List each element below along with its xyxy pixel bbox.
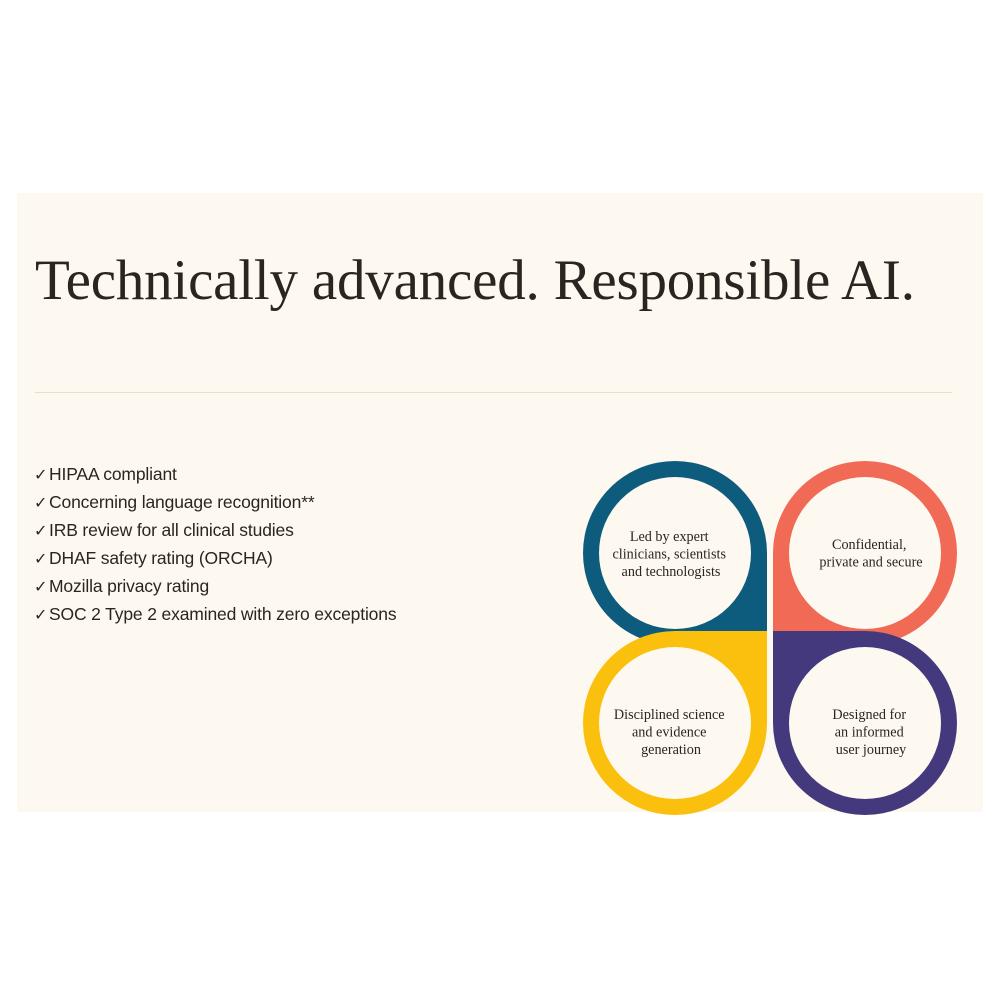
check-icon: ✓ xyxy=(34,491,49,517)
content-card: Technically advanced. Responsible AI. ✓ … xyxy=(17,193,983,812)
petal-line: an informed xyxy=(835,725,904,741)
check-icon: ✓ xyxy=(34,603,49,629)
petal-line: Designed for xyxy=(832,707,906,723)
check-icon: ✓ xyxy=(34,547,49,573)
pinwheel-petal-bottom-left: Disciplined science and evidence generat… xyxy=(583,631,767,815)
petal-line: Led by expert xyxy=(630,529,709,545)
petal-line: generation xyxy=(641,742,701,758)
petal-line: Confidential, xyxy=(832,537,906,553)
list-item: ✓ HIPAA compliant xyxy=(34,461,504,489)
list-item-label: IRB review for all clinical studies xyxy=(49,517,294,543)
check-icon: ✓ xyxy=(34,575,49,601)
petal-line: and evidence xyxy=(632,725,706,741)
petal-label-bottom-left: Disciplined science and evidence generat… xyxy=(614,707,728,758)
list-item: ✓ IRB review for all clinical studies xyxy=(34,517,504,545)
list-item-label: Concerning language recognition** xyxy=(49,489,315,515)
petal-label-bottom-right: Designed for an informed user journey xyxy=(832,707,909,758)
compliance-checklist: ✓ HIPAA compliant ✓ Concerning language … xyxy=(34,461,504,629)
list-item-label: Mozilla privacy rating xyxy=(49,573,209,599)
list-item: ✓ Mozilla privacy rating xyxy=(34,573,504,601)
petal-line: private and secure xyxy=(819,555,922,571)
list-item: ✓ Concerning language recognition** xyxy=(34,489,504,517)
petal-ring-top-right xyxy=(773,461,957,645)
section-divider xyxy=(35,392,952,393)
list-item-label: SOC 2 Type 2 examined with zero exceptio… xyxy=(49,601,396,627)
petal-label-top-left: Led by expert clinicians, scientists and… xyxy=(612,529,729,580)
list-item-label: DHAF safety rating (ORCHA) xyxy=(49,545,273,571)
pinwheel-diagram: Led by expert clinicians, scientists and… xyxy=(570,448,970,828)
check-icon: ✓ xyxy=(34,519,49,545)
petal-line: and technologists xyxy=(622,564,721,580)
list-item: ✓ DHAF safety rating (ORCHA) xyxy=(34,545,504,573)
petal-line: Disciplined science xyxy=(614,707,725,723)
pinwheel-petal-bottom-right: Designed for an informed user journey xyxy=(773,631,957,815)
list-item: ✓ SOC 2 Type 2 examined with zero except… xyxy=(34,601,504,629)
check-icon: ✓ xyxy=(34,463,49,489)
petal-ring-bottom-left xyxy=(583,631,767,815)
pinwheel-petal-top-right: Confidential, private and secure xyxy=(773,461,957,645)
list-item-label: HIPAA compliant xyxy=(49,461,177,487)
page-title: Technically advanced. Responsible AI. xyxy=(35,248,965,314)
petal-ring-bottom-right xyxy=(773,631,957,815)
petal-line: clinicians, scientists xyxy=(612,547,726,563)
petal-line: user journey xyxy=(836,742,907,758)
petal-label-top-right: Confidential, private and secure xyxy=(819,537,922,571)
